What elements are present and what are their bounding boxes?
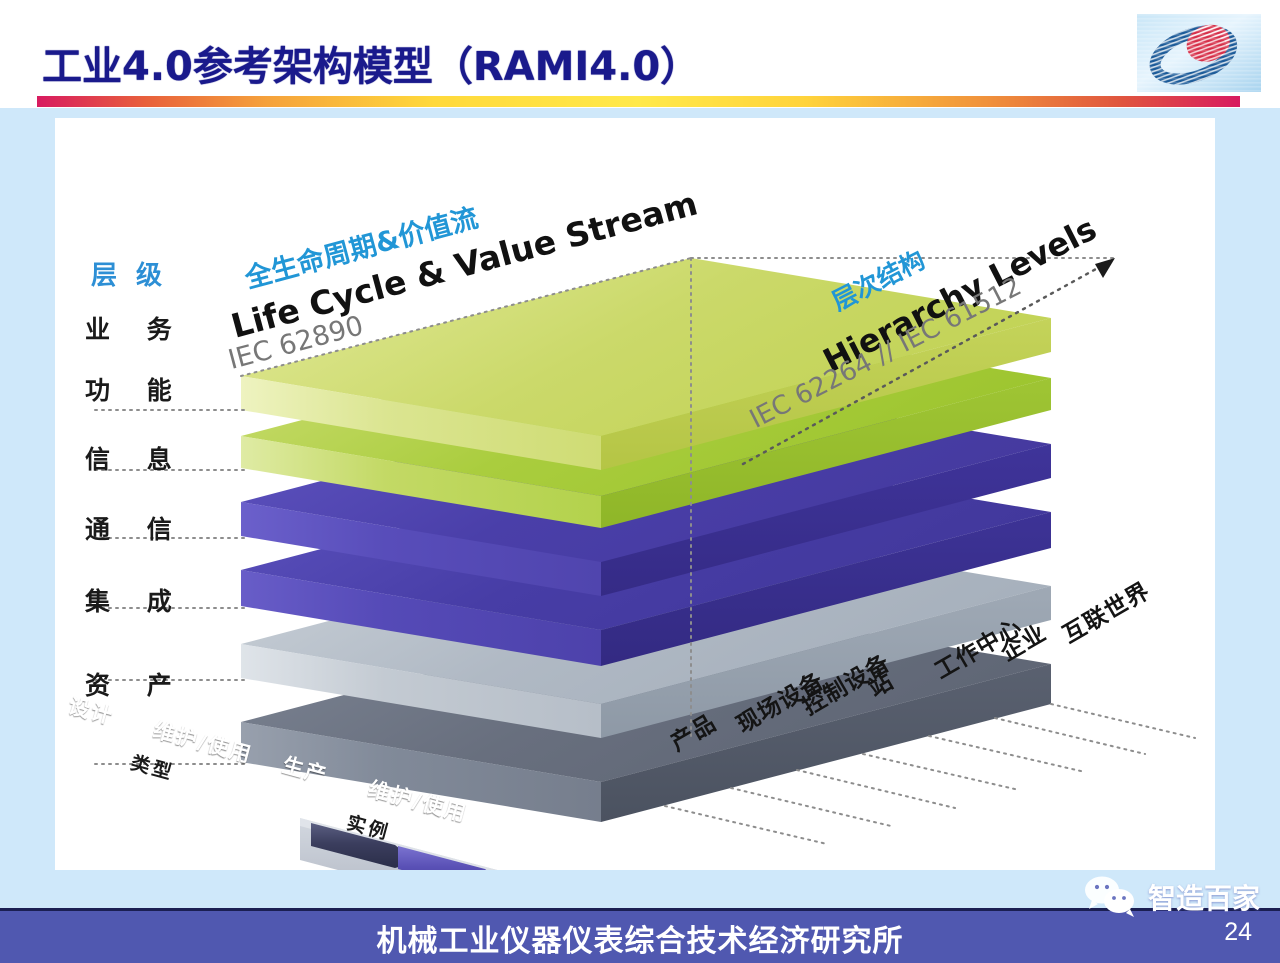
rami-diagram: 全生命周期&价值流 Life Cycle & Value Stream IEC … <box>55 118 1215 870</box>
layer-label-information: 信 息 <box>85 440 186 476</box>
layers-axis-title: 层 级 <box>91 255 167 292</box>
company-logo <box>1137 14 1261 92</box>
layer-label-integration: 集 成 <box>85 582 186 618</box>
page-number: 24 <box>1224 918 1252 947</box>
page-title: 工业4.0参考架构模型（RAMI4.0） <box>42 34 700 92</box>
slide: 工业4.0参考架构模型（RAMI4.0） <box>0 0 1280 960</box>
layer-label-communication: 通 信 <box>85 510 186 546</box>
layer-label-function: 功 能 <box>85 371 186 407</box>
slide-header: 工业4.0参考架构模型（RAMI4.0） <box>0 0 1280 110</box>
watermark-text: 智造百家 <box>1148 877 1260 917</box>
diagram-card: 全生命周期&价值流 Life Cycle & Value Stream IEC … <box>55 118 1215 870</box>
footer-organization: 机械工业仪器仪表综合技术经济研究所 <box>0 916 1280 960</box>
company-logo-icon <box>1137 14 1261 92</box>
wechat-icon <box>1082 876 1140 918</box>
layer-label-business: 业 务 <box>85 310 186 346</box>
watermark: 智造百家 <box>1082 876 1260 918</box>
title-divider <box>37 96 1240 107</box>
